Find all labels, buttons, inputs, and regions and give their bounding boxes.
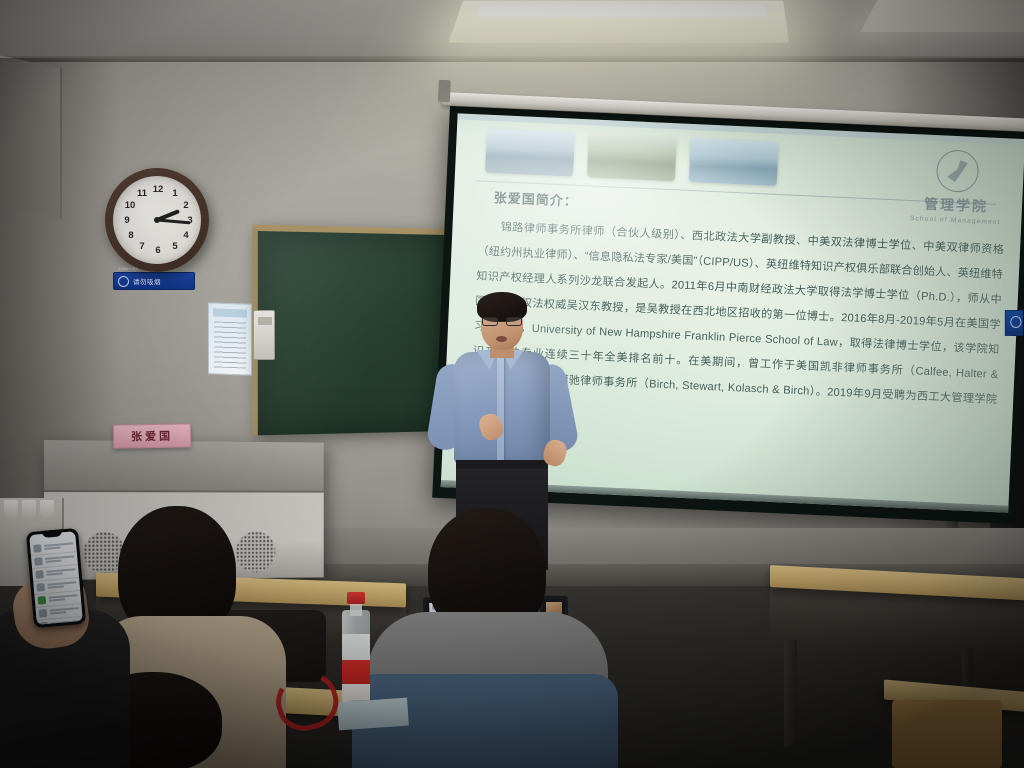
avatar (36, 583, 45, 592)
clock-numeral: 11 (135, 187, 149, 201)
avatar (38, 596, 47, 605)
campus-autumn-photo (587, 133, 677, 181)
slide-title: 张爱国简介： (494, 187, 579, 210)
bottle-label (342, 660, 370, 700)
desk-leg (784, 640, 797, 746)
clock-numeral: 6 (151, 244, 165, 258)
eyeglasses-icon (482, 317, 522, 327)
bottle-label-upper (342, 634, 370, 660)
avatar (34, 557, 43, 566)
chat-preview (44, 542, 73, 552)
clock-numeral: 10 (123, 199, 137, 213)
no-smoking-sign: 请勿吸烟 (113, 272, 195, 290)
presenter-mouth (496, 336, 507, 342)
school-of-management-logo: 管理学院 School of Management (903, 148, 1010, 227)
presenter-belt (456, 460, 548, 469)
name-plate-label: 张爱国 (131, 428, 173, 445)
paper-cups (4, 500, 56, 522)
chat-preview (45, 555, 74, 565)
avatar (39, 609, 48, 618)
classroom-photo-scene: 12 1 2 3 4 5 6 7 8 9 10 11 XI'AN FIRE 请勿… (0, 0, 1024, 768)
chat-preview (50, 607, 79, 617)
sign-circle-icon (118, 276, 129, 287)
clock-numeral: 2 (179, 199, 193, 213)
avatar (40, 622, 49, 625)
wall-control-box (253, 310, 275, 360)
clock-center-pin (154, 217, 160, 223)
clock-numeral: 9 (120, 214, 134, 228)
chat-preview (51, 620, 80, 625)
smartphone[interactable] (26, 528, 86, 628)
fluorescent-tube (475, 6, 767, 17)
campus-dusk-photo (485, 129, 575, 177)
avatar (35, 570, 44, 579)
clock-numeral: 5 (168, 240, 182, 254)
ceiling-fluorescent-light-secondary (861, 0, 1024, 32)
logo-mark-icon (936, 149, 980, 193)
slide-thumbnail-strip (485, 129, 779, 186)
ceiling-edge (0, 56, 1024, 62)
bottle-neck (350, 602, 362, 616)
notebook (337, 698, 409, 731)
ceiling-fluorescent-light (448, 1, 789, 43)
clock-numeral: 12 (151, 183, 165, 197)
bottle-cap (347, 592, 365, 604)
campus-lake-photo (689, 138, 779, 186)
chat-preview (46, 568, 75, 578)
name-plate: 张爱国 (113, 423, 191, 448)
chair-right (892, 700, 1002, 768)
wall-notice-poster (208, 302, 252, 376)
wall-info-sign (1005, 310, 1024, 336)
water-bottle (342, 592, 370, 718)
sign-label: 请勿吸烟 (133, 276, 161, 286)
phone-screen[interactable] (29, 531, 83, 625)
clock-face: 12 1 2 3 4 5 6 7 8 9 10 11 (113, 176, 201, 264)
logo-label-cn: 管理学院 (904, 193, 1009, 218)
console-top-surface (44, 440, 324, 493)
clock-numeral: 8 (124, 229, 138, 243)
student-denim-jacket (352, 508, 618, 768)
chat-preview (47, 581, 76, 591)
wall-clock: 12 1 2 3 4 5 6 7 8 9 10 11 (105, 168, 209, 272)
chat-preview (49, 594, 78, 604)
avatar (33, 544, 42, 553)
roller-bracket-left (438, 80, 451, 103)
presenter-shirt-placket (497, 356, 504, 460)
